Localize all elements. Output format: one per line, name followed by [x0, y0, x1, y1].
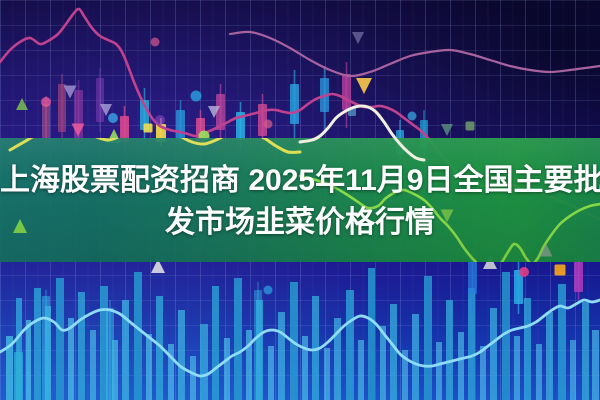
- title-line-1: 上海股票配资招商 2025年11月9日全国主要批: [0, 160, 600, 202]
- market-banner-image: 上海股票配资招商 2025年11月9日全国主要批 发市场韭菜价格行情: [0, 0, 600, 400]
- title-line-2: 发市场韭菜价格行情: [0, 202, 600, 244]
- foreground-group: [300, 106, 424, 160]
- series-white-cream-line: [300, 106, 424, 160]
- banner-title: 上海股票配资招商 2025年11月9日全国主要批 发市场韭菜价格行情: [0, 160, 600, 244]
